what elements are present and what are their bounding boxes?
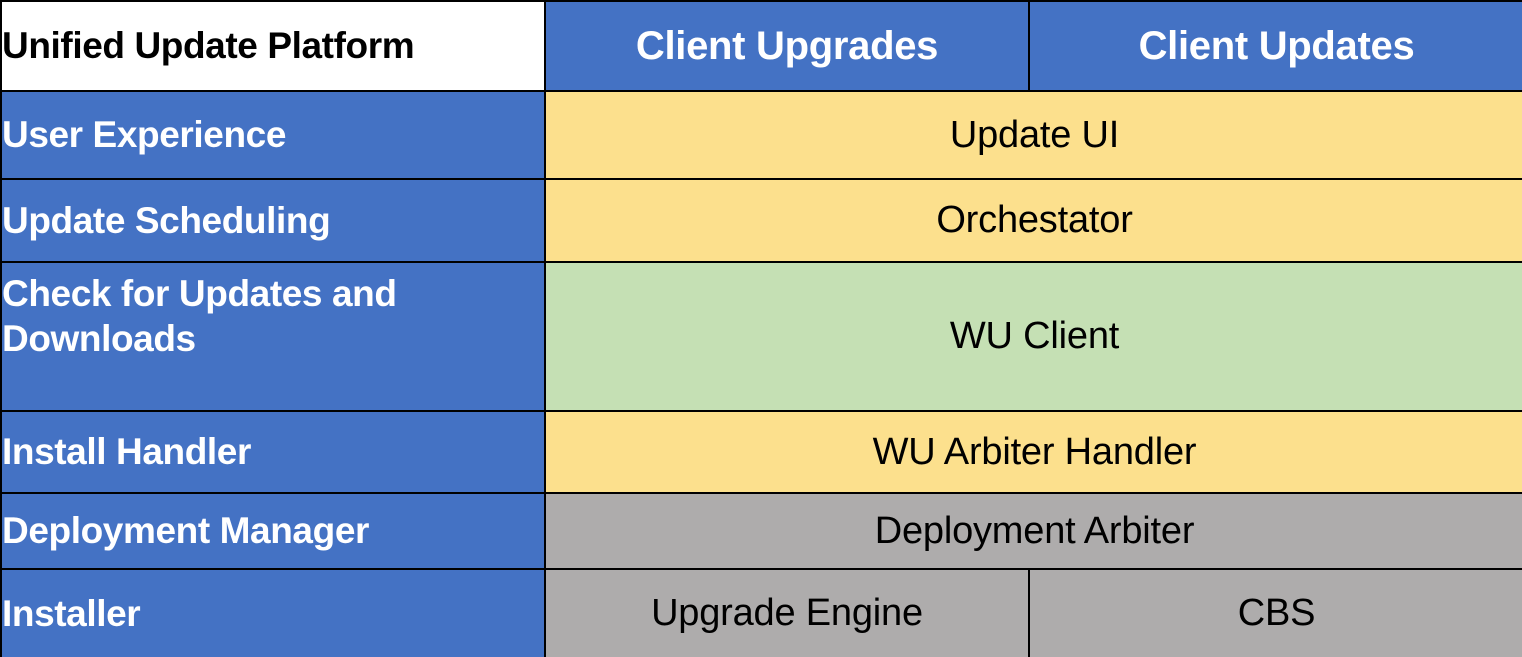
cell-wu-arbiter-handler: WU Arbiter Handler xyxy=(545,411,1522,493)
row-label-check-for-updates-and-downloads: Check for Updates and Downloads xyxy=(1,262,545,411)
cell-upgrade-engine: Upgrade Engine xyxy=(545,569,1029,657)
table-row: User Experience Update UI xyxy=(1,91,1522,179)
column-header-client-updates: Client Updates xyxy=(1029,1,1522,91)
table-title-cell: Unified Update Platform xyxy=(1,1,545,91)
cell-cbs: CBS xyxy=(1029,569,1522,657)
row-label-user-experience: User Experience xyxy=(1,91,545,179)
unified-update-platform-table: Unified Update Platform Client Upgrades … xyxy=(0,0,1522,657)
cell-deployment-arbiter: Deployment Arbiter xyxy=(545,493,1522,569)
column-header-client-upgrades: Client Upgrades xyxy=(545,1,1029,91)
cell-orchestator: Orchestator xyxy=(545,179,1522,262)
table-row: Update Scheduling Orchestator xyxy=(1,179,1522,262)
cell-wu-client: WU Client xyxy=(545,262,1522,411)
row-label-update-scheduling: Update Scheduling xyxy=(1,179,545,262)
table-row: Check for Updates and Downloads WU Clien… xyxy=(1,262,1522,411)
table-row: Install Handler WU Arbiter Handler xyxy=(1,411,1522,493)
table-row: Deployment Manager Deployment Arbiter xyxy=(1,493,1522,569)
row-label-installer: Installer xyxy=(1,569,545,657)
row-label-install-handler: Install Handler xyxy=(1,411,545,493)
table-row: Installer Upgrade Engine CBS xyxy=(1,569,1522,657)
table-header-row: Unified Update Platform Client Upgrades … xyxy=(1,1,1522,91)
row-label-deployment-manager: Deployment Manager xyxy=(1,493,545,569)
cell-update-ui: Update UI xyxy=(545,91,1522,179)
